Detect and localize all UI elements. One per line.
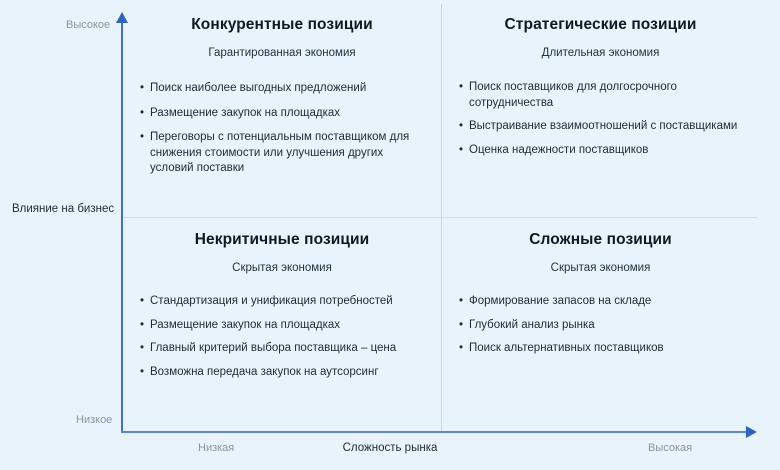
bullet-dot-icon: •	[140, 365, 144, 381]
quadrant-subtitle: Гарантированная экономия	[124, 47, 440, 59]
bullet-item: •Поиск альтернативных поставщиков	[469, 341, 742, 357]
x-axis-line	[121, 431, 748, 433]
quadrant-bullet-list: •Поиск наиболее выгодных предложений•Раз…	[124, 81, 440, 177]
bullet-item: •Стандартизация и унификация потребносте…	[150, 294, 424, 310]
bullet-item: •Переговоры с потенциальным поставщиком …	[150, 130, 424, 177]
bullet-item: •Глубокий анализ рынка	[469, 318, 742, 334]
y-axis-label: Влияние на бизнес	[12, 203, 114, 215]
bullet-dot-icon: •	[459, 294, 463, 310]
bullet-text: Главный критерий выбора поставщика – цен…	[150, 342, 396, 354]
bullet-text: Переговоры с потенциальным поставщиком д…	[150, 131, 409, 174]
bullet-dot-icon: •	[140, 318, 144, 334]
quadrant-divider-vertical	[441, 4, 442, 431]
bullet-dot-icon: •	[459, 119, 463, 135]
bullet-dot-icon: •	[459, 318, 463, 334]
quadrant-subtitle: Скрытая экономия	[443, 262, 758, 274]
bullet-text: Выстраивание взаимоотношений с поставщик…	[469, 120, 737, 132]
bullet-text: Формирование запасов на складе	[469, 295, 651, 307]
quadrant-bullet-list: •Стандартизация и унификация потребносте…	[124, 294, 440, 380]
bullet-text: Возможна передача закупок на аутсорсинг	[150, 366, 379, 378]
bullet-dot-icon: •	[140, 294, 144, 310]
bullet-item: •Поиск поставщиков для долгосрочного сот…	[469, 80, 742, 111]
bullet-text: Поиск альтернативных поставщиков	[469, 342, 664, 354]
quadrant-subtitle: Длительная экономия	[443, 47, 758, 59]
bullet-dot-icon: •	[140, 341, 144, 357]
bullet-item: •Выстраивание взаимоотношений с поставщи…	[469, 119, 742, 135]
kraljic-matrix-chart: Влияние на бизнес Сложность рынка Высоко…	[0, 0, 780, 470]
quadrant-title: Стратегические позиции	[443, 16, 758, 34]
bullet-text: Глубокий анализ рынка	[469, 319, 595, 331]
bullet-item: •Главный критерий выбора поставщика – це…	[150, 341, 424, 357]
quadrant-competitive: Конкурентные позиции Гарантированная эко…	[124, 4, 440, 216]
bullet-item: •Формирование запасов на складе	[469, 294, 742, 310]
bullet-text: Поиск поставщиков для долгосрочного сотр…	[469, 81, 677, 109]
bullet-text: Оценка надежности поставщиков	[469, 144, 648, 156]
bullet-dot-icon: •	[140, 81, 144, 97]
bullet-text: Стандартизация и унификация потребностей	[150, 295, 393, 307]
bullet-text: Поиск наиболее выгодных предложений	[150, 82, 366, 94]
bullet-dot-icon: •	[140, 130, 144, 146]
bullet-item: •Оценка надежности поставщиков	[469, 143, 742, 159]
quadrant-title: Сложные позиции	[443, 231, 758, 249]
y-axis-line	[121, 22, 123, 433]
quadrant-bullet-list: •Поиск поставщиков для долгосрочного сот…	[443, 80, 758, 158]
bullet-item: •Возможна передача закупок на аутсорсинг	[150, 365, 424, 381]
x-axis-tick-low: Низкая	[198, 442, 234, 454]
quadrant-bottleneck: Сложные позиции Скрытая экономия •Формир…	[443, 219, 758, 430]
bullet-dot-icon: •	[459, 143, 463, 159]
bullet-item: •Размещение закупок на площадках	[150, 106, 424, 122]
bullet-text: Размещение закупок на площадках	[150, 319, 340, 331]
quadrant-title: Некритичные позиции	[124, 231, 440, 249]
bullet-dot-icon: •	[140, 106, 144, 122]
quadrant-title: Конкурентные позиции	[124, 16, 440, 34]
bullet-dot-icon: •	[459, 80, 463, 96]
x-axis-tick-high: Высокая	[648, 442, 692, 454]
bullet-item: •Размещение закупок на площадках	[150, 318, 424, 334]
bullet-dot-icon: •	[459, 341, 463, 357]
y-axis-tick-high: Высокое	[66, 19, 110, 31]
quadrant-subtitle: Скрытая экономия	[124, 262, 440, 274]
quadrant-strategic: Стратегические позиции Длительная эконом…	[443, 4, 758, 216]
quadrant-noncritical: Некритичные позиции Скрытая экономия •Ст…	[124, 219, 440, 430]
y-axis-tick-low: Низкое	[76, 414, 112, 426]
bullet-text: Размещение закупок на площадках	[150, 107, 340, 119]
bullet-item: •Поиск наиболее выгодных предложений	[150, 81, 424, 97]
quadrant-bullet-list: •Формирование запасов на складе•Глубокий…	[443, 294, 758, 357]
